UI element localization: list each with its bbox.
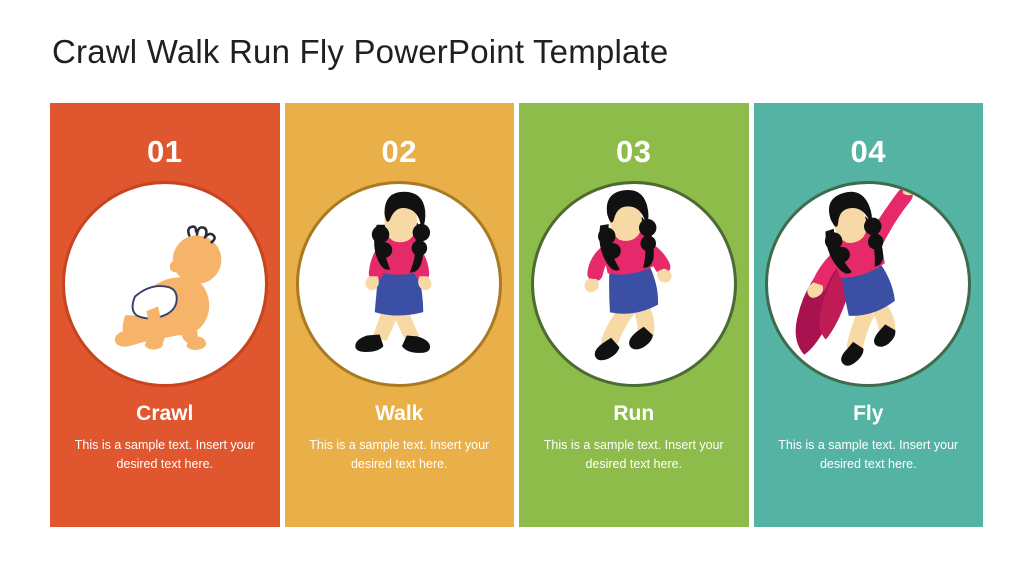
card-body-text: This is a sample text. Insert your desir… xyxy=(541,436,727,475)
icon-circle xyxy=(765,181,971,387)
card-fly[interactable]: 04 xyxy=(754,103,984,527)
crawling-baby-icon xyxy=(65,181,265,387)
card-walk[interactable]: 02 xyxy=(285,103,515,527)
icon-circle xyxy=(531,181,737,387)
card-body-text: This is a sample text. Insert your desir… xyxy=(72,436,258,475)
card-run[interactable]: 03 xyxy=(519,103,749,527)
card-label: Run xyxy=(613,403,654,424)
card-crawl[interactable]: 01 xyxy=(50,103,280,527)
page-title: Crawl Walk Run Fly PowerPoint Template xyxy=(52,33,668,71)
card-label: Walk xyxy=(375,403,423,424)
card-label: Fly xyxy=(853,403,883,424)
card-number: 02 xyxy=(382,136,417,167)
card-number: 01 xyxy=(147,136,182,167)
card-body-text: This is a sample text. Insert your desir… xyxy=(775,436,961,475)
card-number: 04 xyxy=(851,136,886,167)
card-body-text: This is a sample text. Insert your desir… xyxy=(306,436,492,475)
card-number: 03 xyxy=(616,136,651,167)
icon-circle xyxy=(62,181,268,387)
card-label: Crawl xyxy=(136,403,193,424)
running-woman-icon xyxy=(534,181,734,387)
card-row: 01 xyxy=(50,103,983,527)
walking-woman-icon xyxy=(299,181,499,387)
flying-superhero-woman-icon xyxy=(768,181,968,387)
slide-canvas: Crawl Walk Run Fly PowerPoint Template 0… xyxy=(0,0,1024,576)
icon-circle xyxy=(296,181,502,387)
